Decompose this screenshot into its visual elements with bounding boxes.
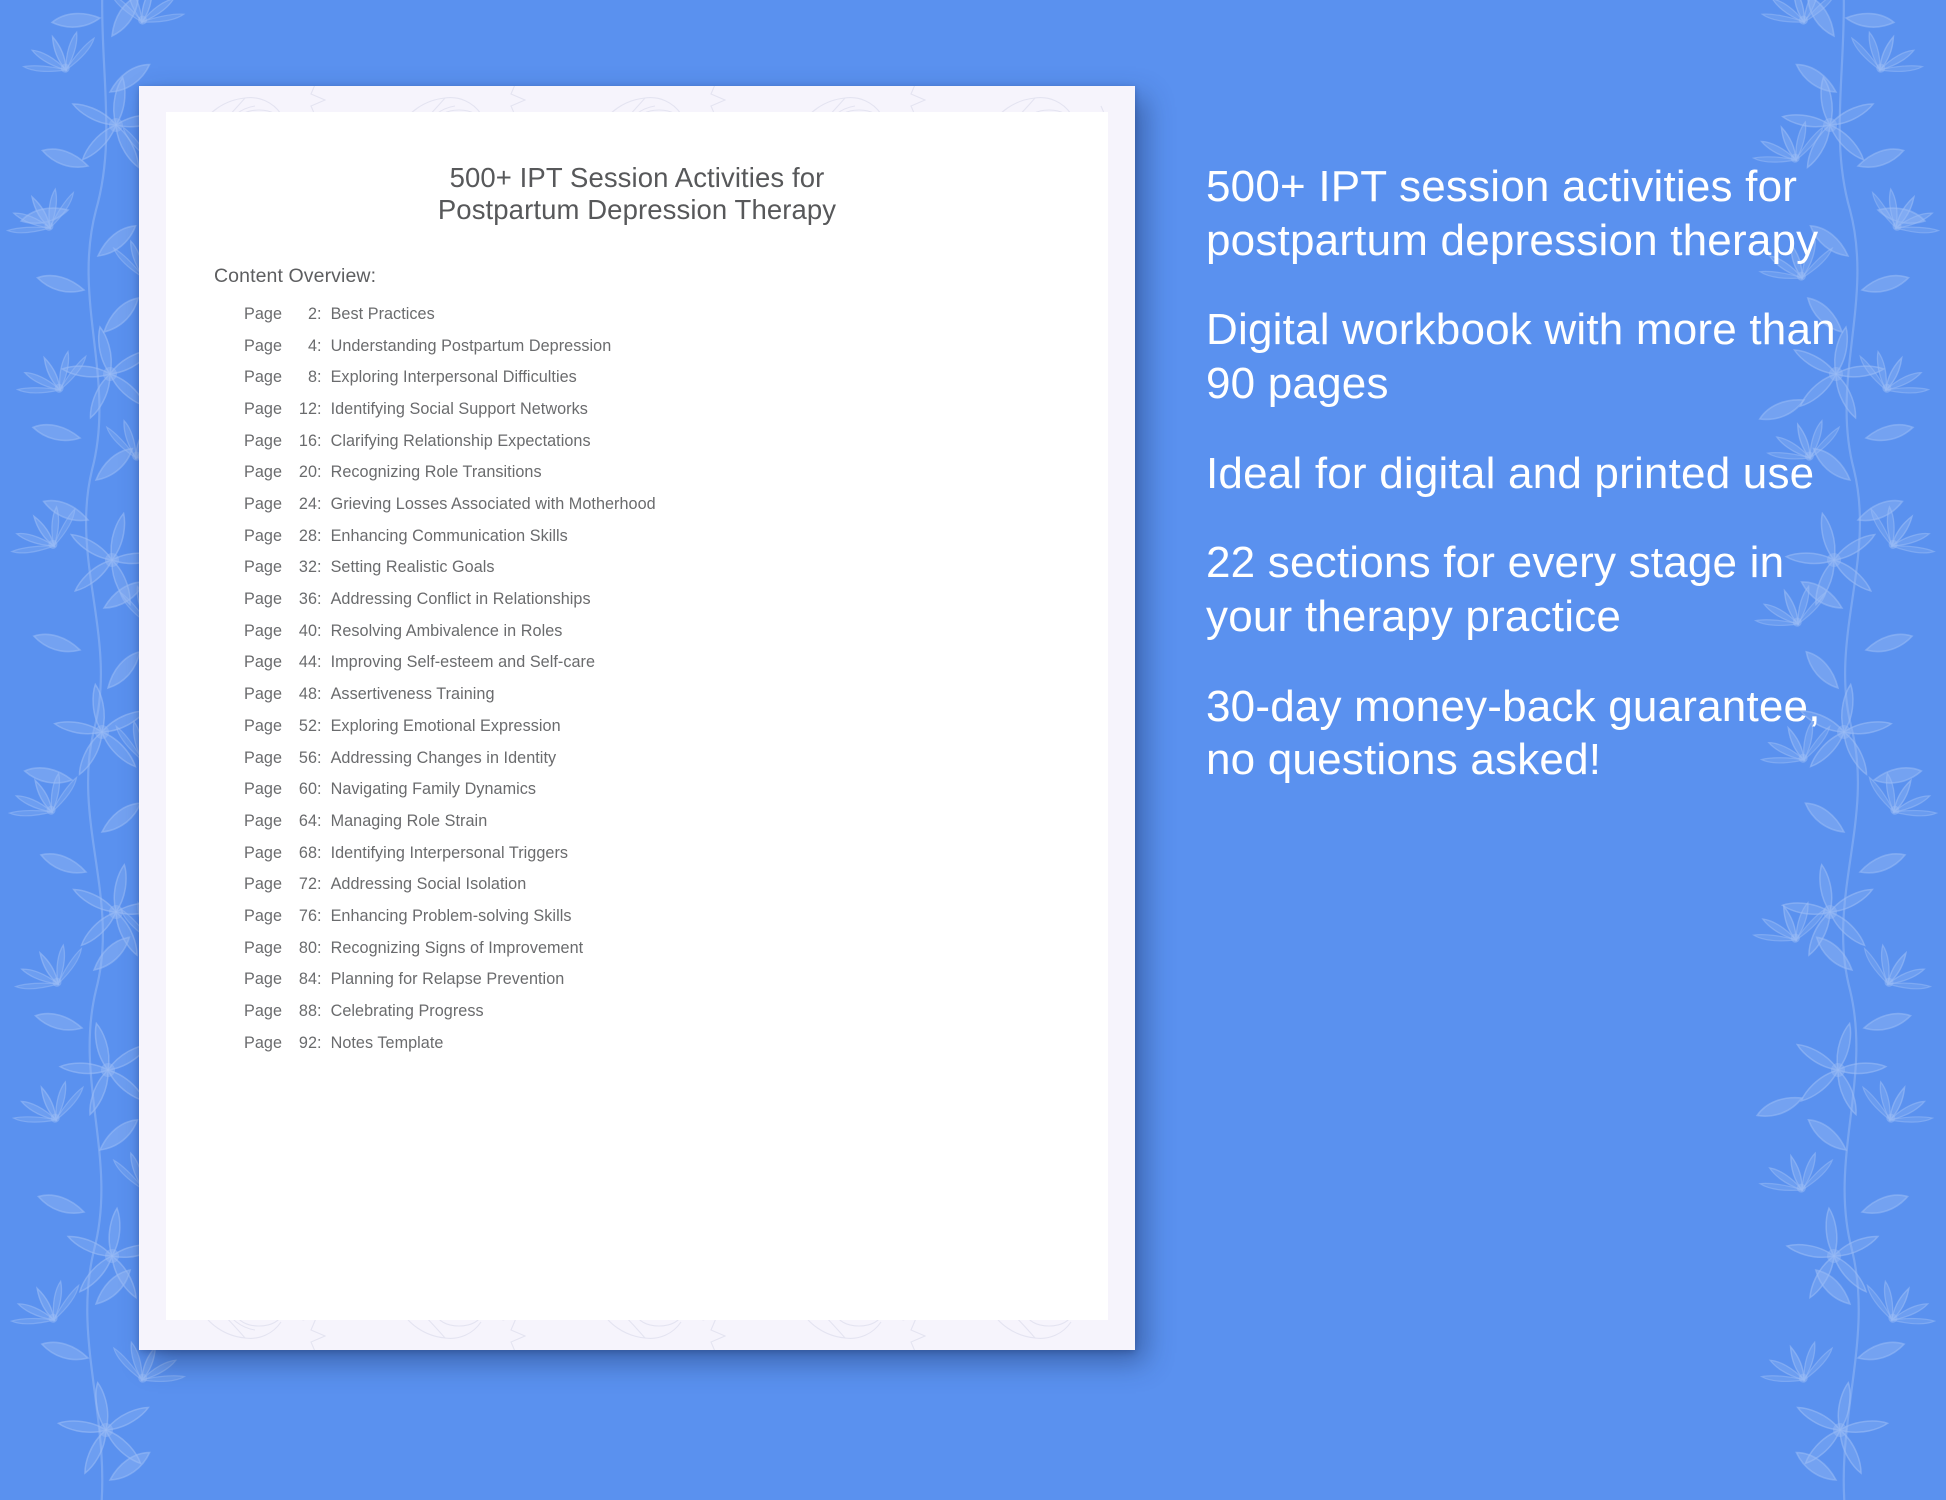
toc-entry-page-word: Page <box>244 875 282 894</box>
toc-entry-title: Exploring Interpersonal Difficulties <box>331 368 577 387</box>
toc-entry-page-word: Page <box>244 400 282 419</box>
toc-entry-page-word: Page <box>244 495 282 514</box>
toc-entry-title: Addressing Changes in Identity <box>331 749 557 768</box>
toc-entry-page-word: Page <box>244 907 282 926</box>
toc-entry-page-word: Page <box>244 558 282 577</box>
toc-entry-page-word: Page <box>244 970 282 989</box>
toc-entry[interactable]: Page64:Managing Role Strain <box>244 812 1108 844</box>
toc-entry-separator: : <box>317 305 322 324</box>
toc-entry-page-number: 48 <box>287 685 317 704</box>
toc-entry-page-number: 2 <box>287 305 317 324</box>
toc-entry-page-number: 40 <box>287 622 317 641</box>
toc-entry-separator: : <box>317 717 322 736</box>
toc-entry-title: Recognizing Signs of Improvement <box>331 939 584 958</box>
toc-entry-separator: : <box>317 1034 322 1053</box>
toc-entry-page-number: 84 <box>287 970 317 989</box>
toc-entry-separator: : <box>317 558 322 577</box>
toc-entry-page-number: 44 <box>287 653 317 672</box>
toc-entry-separator: : <box>317 970 322 989</box>
toc-entry-page-word: Page <box>244 368 282 387</box>
toc-entry-page-number: 88 <box>287 1002 317 1021</box>
document-preview-card[interactable]: 500+ IPT Session Activities for Postpart… <box>139 86 1135 1350</box>
toc-entry-page-number: 80 <box>287 939 317 958</box>
toc-entry-title: Enhancing Communication Skills <box>331 527 568 546</box>
toc-entry-title: Addressing Conflict in Relationships <box>331 590 591 609</box>
toc-entry-title: Planning for Relapse Prevention <box>331 970 565 989</box>
toc-entry-separator: : <box>317 875 322 894</box>
toc-entry-page-word: Page <box>244 1034 282 1053</box>
toc-entry[interactable]: Page92:Notes Template <box>244 1034 1108 1066</box>
marketing-line: Ideal for digital and printed use <box>1206 447 1846 501</box>
toc-entry-page-word: Page <box>244 780 282 799</box>
toc-entry-page-number: 12 <box>287 400 317 419</box>
toc-entry-page-word: Page <box>244 1002 282 1021</box>
toc-entry[interactable]: Page12:Identifying Social Support Networ… <box>244 400 1108 432</box>
toc-entry[interactable]: Page60:Navigating Family Dynamics <box>244 780 1108 812</box>
toc-entry-page-word: Page <box>244 844 282 863</box>
toc-entry-title: Exploring Emotional Expression <box>331 717 561 736</box>
toc-entry[interactable]: Page24:Grieving Losses Associated with M… <box>244 495 1108 527</box>
toc-entry[interactable]: Page76:Enhancing Problem-solving Skills <box>244 907 1108 939</box>
toc-entry-title: Resolving Ambivalence in Roles <box>331 622 563 641</box>
toc-entry-title: Improving Self-esteem and Self-care <box>331 653 595 672</box>
toc-entry-separator: : <box>317 337 322 356</box>
marketing-line: 30-day money-back guarantee, no question… <box>1206 680 1846 787</box>
toc-entry-page-number: 8 <box>287 368 317 387</box>
toc-entry[interactable]: Page56:Addressing Changes in Identity <box>244 749 1108 781</box>
toc-entry-separator: : <box>317 400 322 419</box>
toc-entry-separator: : <box>317 527 322 546</box>
toc-entry[interactable]: Page36:Addressing Conflict in Relationsh… <box>244 590 1108 622</box>
toc-entry-separator: : <box>317 1002 322 1021</box>
toc-entry-title: Identifying Interpersonal Triggers <box>331 844 568 863</box>
toc-entry-page-word: Page <box>244 305 282 324</box>
toc-entry-title: Recognizing Role Transitions <box>331 463 542 482</box>
toc-entry-separator: : <box>317 622 322 641</box>
marketing-line: Digital workbook with more than 90 pages <box>1206 303 1846 410</box>
toc-entry-separator: : <box>317 812 322 831</box>
toc-entry-title: Assertiveness Training <box>331 685 495 704</box>
toc-entry-page-word: Page <box>244 653 282 672</box>
toc-entry[interactable]: Page72:Addressing Social Isolation <box>244 875 1108 907</box>
toc-entry-title: Setting Realistic Goals <box>331 558 495 577</box>
toc-entry[interactable]: Page48:Assertiveness Training <box>244 685 1108 717</box>
toc-entry[interactable]: Page44:Improving Self-esteem and Self-ca… <box>244 653 1108 685</box>
toc-entry-page-word: Page <box>244 622 282 641</box>
toc-entry-title: Grieving Losses Associated with Motherho… <box>331 495 656 514</box>
toc-entry-separator: : <box>317 463 322 482</box>
toc-entry[interactable]: Page32:Setting Realistic Goals <box>244 558 1108 590</box>
marketing-copy-column: 500+ IPT session activities for postpart… <box>1206 160 1846 787</box>
toc-entry-title: Best Practices <box>331 305 435 324</box>
toc-entry-page-number: 52 <box>287 717 317 736</box>
toc-entry-separator: : <box>317 907 322 926</box>
table-of-contents-list: Page2:Best PracticesPage4:Understanding … <box>166 288 1108 1066</box>
toc-entry-title: Understanding Postpartum Depression <box>331 337 612 356</box>
toc-entry-title: Addressing Social Isolation <box>331 875 527 894</box>
toc-entry-page-word: Page <box>244 939 282 958</box>
toc-entry-title: Clarifying Relationship Expectations <box>331 432 591 451</box>
toc-entry-separator: : <box>317 653 322 672</box>
toc-entry-page-number: 72 <box>287 875 317 894</box>
toc-entry-page-word: Page <box>244 812 282 831</box>
toc-entry[interactable]: Page80:Recognizing Signs of Improvement <box>244 939 1108 971</box>
toc-entry-title: Celebrating Progress <box>331 1002 484 1021</box>
toc-entry-separator: : <box>317 432 322 451</box>
toc-entry-page-number: 24 <box>287 495 317 514</box>
toc-entry-page-number: 68 <box>287 844 317 863</box>
toc-entry-page-number: 28 <box>287 527 317 546</box>
page-title: 500+ IPT Session Activities for Postpart… <box>166 112 1108 227</box>
page-title-line-1: 500+ IPT Session Activities for <box>236 162 1038 194</box>
toc-entry-page-number: 36 <box>287 590 317 609</box>
toc-entry-separator: : <box>317 368 322 387</box>
toc-entry-page-word: Page <box>244 527 282 546</box>
toc-entry-title: Identifying Social Support Networks <box>331 400 588 419</box>
toc-entry-separator: : <box>317 939 322 958</box>
toc-entry-page-word: Page <box>244 590 282 609</box>
toc-entry-page-number: 76 <box>287 907 317 926</box>
page-title-line-2: Postpartum Depression Therapy <box>236 194 1038 226</box>
toc-entry-page-number: 92 <box>287 1034 317 1053</box>
toc-entry-title: Navigating Family Dynamics <box>331 780 537 799</box>
toc-entry-separator: : <box>317 749 322 768</box>
toc-entry-title: Managing Role Strain <box>331 812 488 831</box>
toc-entry-title: Enhancing Problem-solving Skills <box>331 907 572 926</box>
toc-entry-page-number: 56 <box>287 749 317 768</box>
marketing-line: 500+ IPT session activities for postpart… <box>1206 160 1846 267</box>
toc-entry[interactable]: Page2:Best Practices <box>244 305 1108 337</box>
toc-entry-page-word: Page <box>244 463 282 482</box>
toc-entry-page-number: 60 <box>287 780 317 799</box>
toc-entry-separator: : <box>317 495 322 514</box>
toc-entry-separator: : <box>317 844 322 863</box>
toc-entry-title: Notes Template <box>331 1034 444 1053</box>
toc-entry-page-number: 20 <box>287 463 317 482</box>
toc-entry-page-word: Page <box>244 685 282 704</box>
toc-entry[interactable]: Page4:Understanding Postpartum Depressio… <box>244 337 1108 369</box>
toc-entry-page-number: 64 <box>287 812 317 831</box>
toc-entry[interactable]: Page16:Clarifying Relationship Expectati… <box>244 432 1108 464</box>
toc-entry-separator: : <box>317 590 322 609</box>
document-page: 500+ IPT Session Activities for Postpart… <box>166 112 1108 1320</box>
toc-entry-page-number: 32 <box>287 558 317 577</box>
toc-entry[interactable]: Page88:Celebrating Progress <box>244 1002 1108 1034</box>
toc-entry-separator: : <box>317 685 322 704</box>
marketing-line: 22 sections for every stage in your ther… <box>1206 536 1846 643</box>
toc-entry[interactable]: Page20:Recognizing Role Transitions <box>244 463 1108 495</box>
toc-entry[interactable]: Page84:Planning for Relapse Prevention <box>244 970 1108 1002</box>
toc-entry[interactable]: Page68:Identifying Interpersonal Trigger… <box>244 844 1108 876</box>
toc-entry-page-number: 16 <box>287 432 317 451</box>
toc-entry-separator: : <box>317 780 322 799</box>
toc-entry[interactable]: Page40:Resolving Ambivalence in Roles <box>244 622 1108 654</box>
toc-entry-page-word: Page <box>244 717 282 736</box>
toc-entry-page-word: Page <box>244 337 282 356</box>
toc-entry[interactable]: Page8:Exploring Interpersonal Difficulti… <box>244 368 1108 400</box>
toc-entry-page-number: 4 <box>287 337 317 356</box>
toc-entry-page-word: Page <box>244 749 282 768</box>
toc-entry-page-word: Page <box>244 432 282 451</box>
content-overview-label: Content Overview: <box>166 227 1108 288</box>
toc-entry[interactable]: Page52:Exploring Emotional Expression <box>244 717 1108 749</box>
toc-entry[interactable]: Page28:Enhancing Communication Skills <box>244 527 1108 559</box>
